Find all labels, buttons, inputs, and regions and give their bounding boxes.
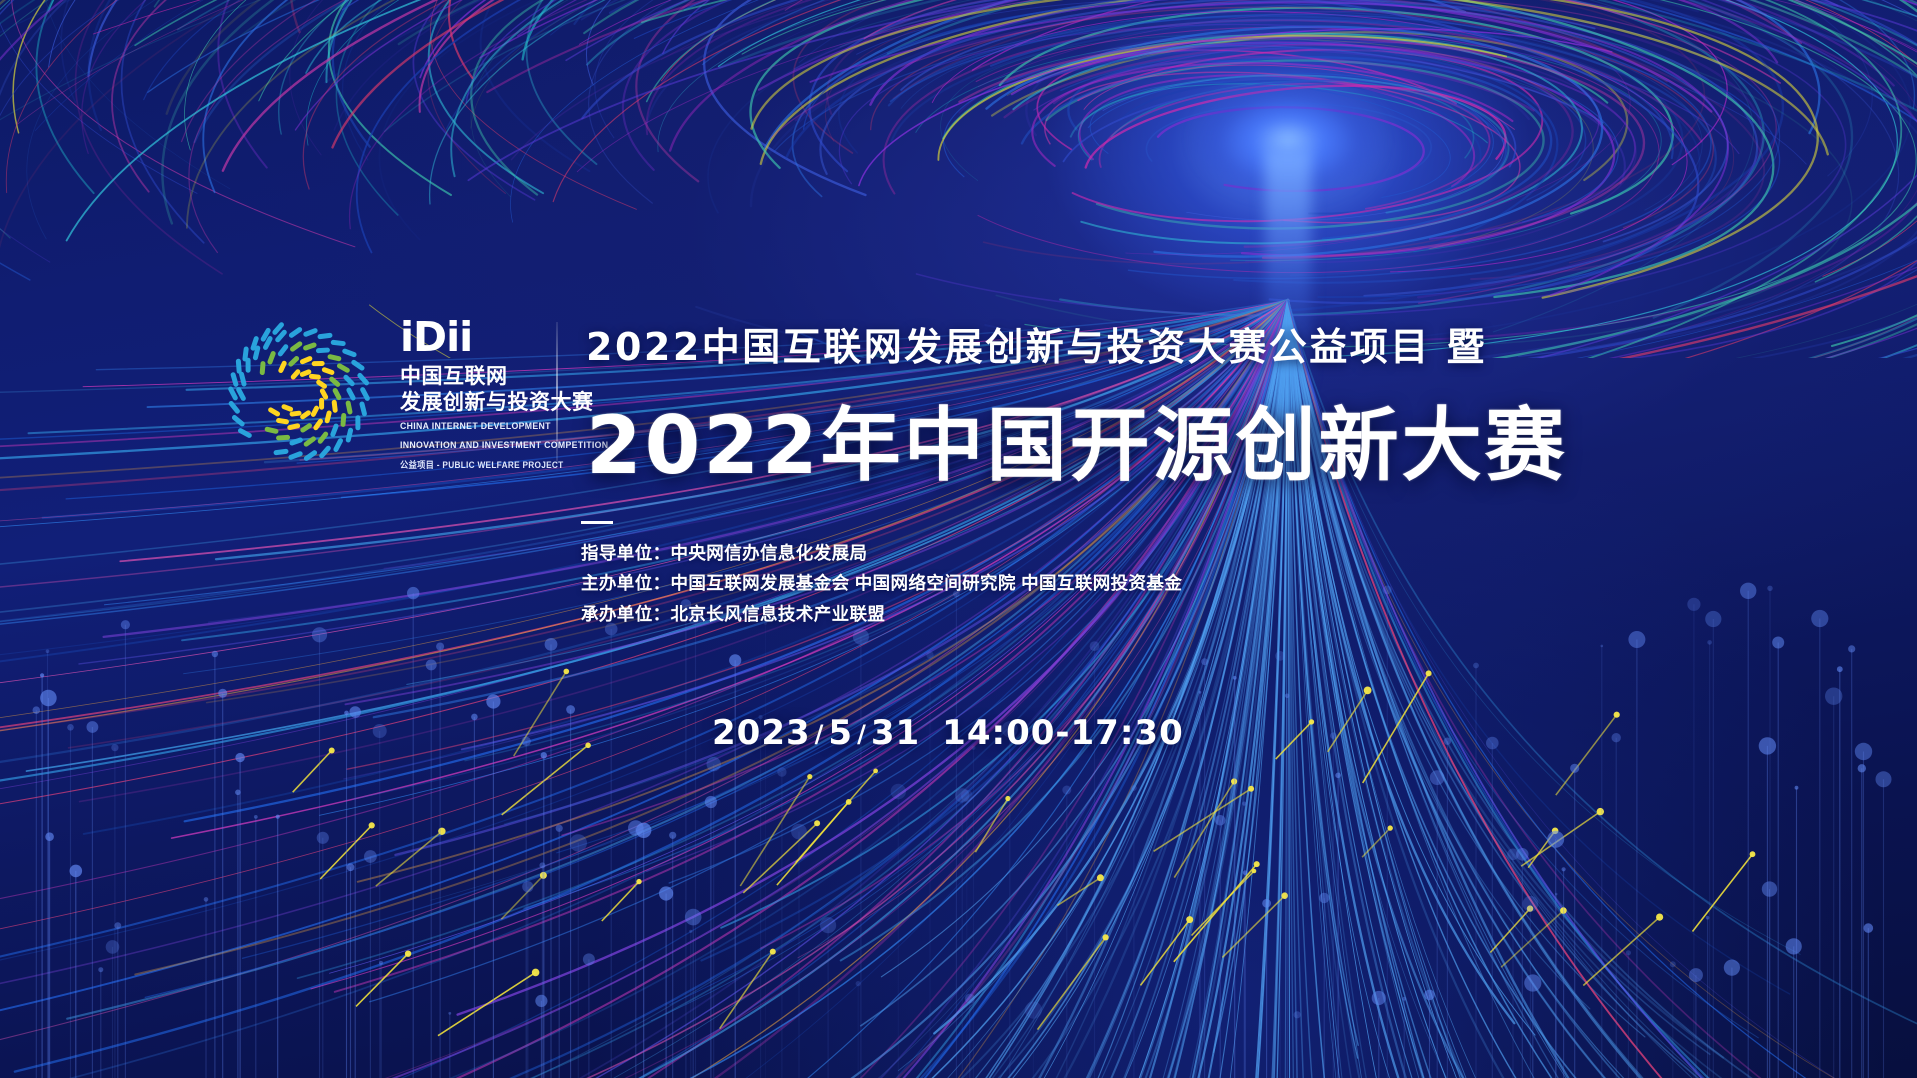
organizer-line-host: 主办单位：中国互联网发展基金会 中国网络空间研究院 中国互联网投资基金 [581,568,1182,598]
event-time: 14:00-17:30 [942,713,1184,753]
spiral-dots-icon [228,319,378,469]
date-separator-1: / [815,720,825,748]
title-block: 2022中国互联网发展创新与投资大赛公益项目 暨 2022年中国开源创新大赛 [586,316,1568,497]
date-separator-2: / [857,720,867,748]
logo-en-line1: CHINA INTERNET DEVELOPMENT [400,420,608,434]
poster-content: iDii 中国互联网 发展创新与投资大赛 CHINA INTERNET DEVE… [0,0,1917,1078]
event-day: 31 [871,713,920,753]
logo-en-line2: INNOVATION AND INVESTMENT COMPETITION [400,439,608,453]
event-year: 2023 [712,713,811,753]
organizer-line-organizer: 承办单位：北京长风信息技术产业联盟 [581,599,1182,629]
event-poster: iDii 中国互联网 发展创新与投资大赛 CHINA INTERNET DEVE… [0,0,1917,1078]
organizers-block: 指导单位：中央网信办信息化发展局 主办单位：中国互联网发展基金会 中国网络空间研… [581,521,1182,629]
logo-title-divider [556,322,558,464]
event-datetime: 2023/5/3114:00-17:30 [712,713,1184,753]
logo-welfare-label: 公益项目 - PUBLIC WELFARE PROJECT [400,458,608,471]
organizers-rule [581,521,613,524]
event-subtitle: 2022中国互联网发展创新与投资大赛公益项目 暨 [586,316,1568,371]
idic-logo: iDii 中国互联网 发展创新与投资大赛 CHINA INTERNET DEVE… [228,318,627,471]
event-month: 5 [828,713,853,753]
organizer-line-guidance: 指导单位：中央网信办信息化发展局 [581,538,1182,568]
event-headline: 2022年中国开源创新大赛 [586,381,1568,497]
